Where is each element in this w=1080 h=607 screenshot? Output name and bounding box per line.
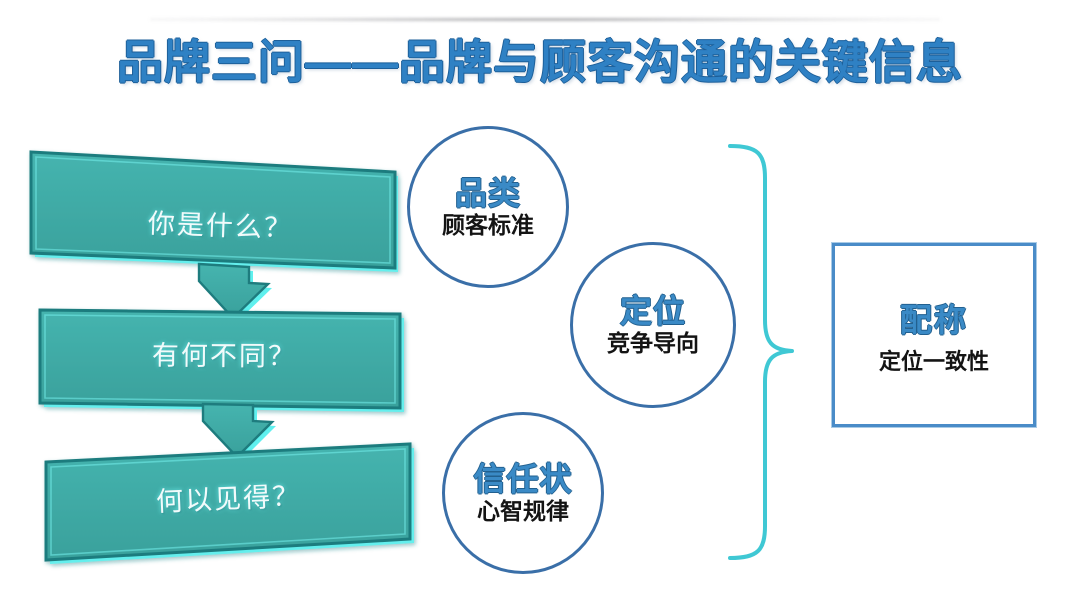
- concept-circle-3-heading: 信任状: [473, 462, 572, 497]
- concept-circle-2[interactable]: 定位 竞争导向: [570, 242, 736, 408]
- concept-circle-2-sub: 竞争导向: [607, 330, 699, 356]
- concept-circle-1[interactable]: 品类 顾客标准: [407, 126, 569, 288]
- top-shadow-streak: [150, 17, 940, 22]
- concept-circle-3[interactable]: 信任状 心智规律: [442, 412, 604, 574]
- slide-canvas: 品牌三问——品牌与顾客沟通的关键信息: [0, 0, 1080, 607]
- result-box[interactable]: 配称 定位一致性: [832, 243, 1036, 427]
- flow-connector-arrow-1: [199, 264, 272, 322]
- concept-circle-1-sub: 顾客标准: [442, 212, 534, 238]
- concept-circle-1-heading: 品类: [455, 176, 521, 211]
- result-box-sub: 定位一致性: [879, 344, 989, 376]
- concept-circle-3-sub: 心智规律: [477, 498, 569, 524]
- concept-circle-2-heading: 定位: [620, 294, 686, 329]
- result-box-heading: 配称: [900, 295, 968, 341]
- page-title: 品牌三问——品牌与顾客沟通的关键信息: [0, 26, 1080, 92]
- flow-connector-arrow-2: [203, 404, 276, 461]
- flow-bar-label-1: 你是什么？: [147, 201, 293, 245]
- flow-bar-label-2: 有何不同？: [152, 333, 297, 373]
- flow-bar-label-3: 何以见得？: [155, 474, 302, 519]
